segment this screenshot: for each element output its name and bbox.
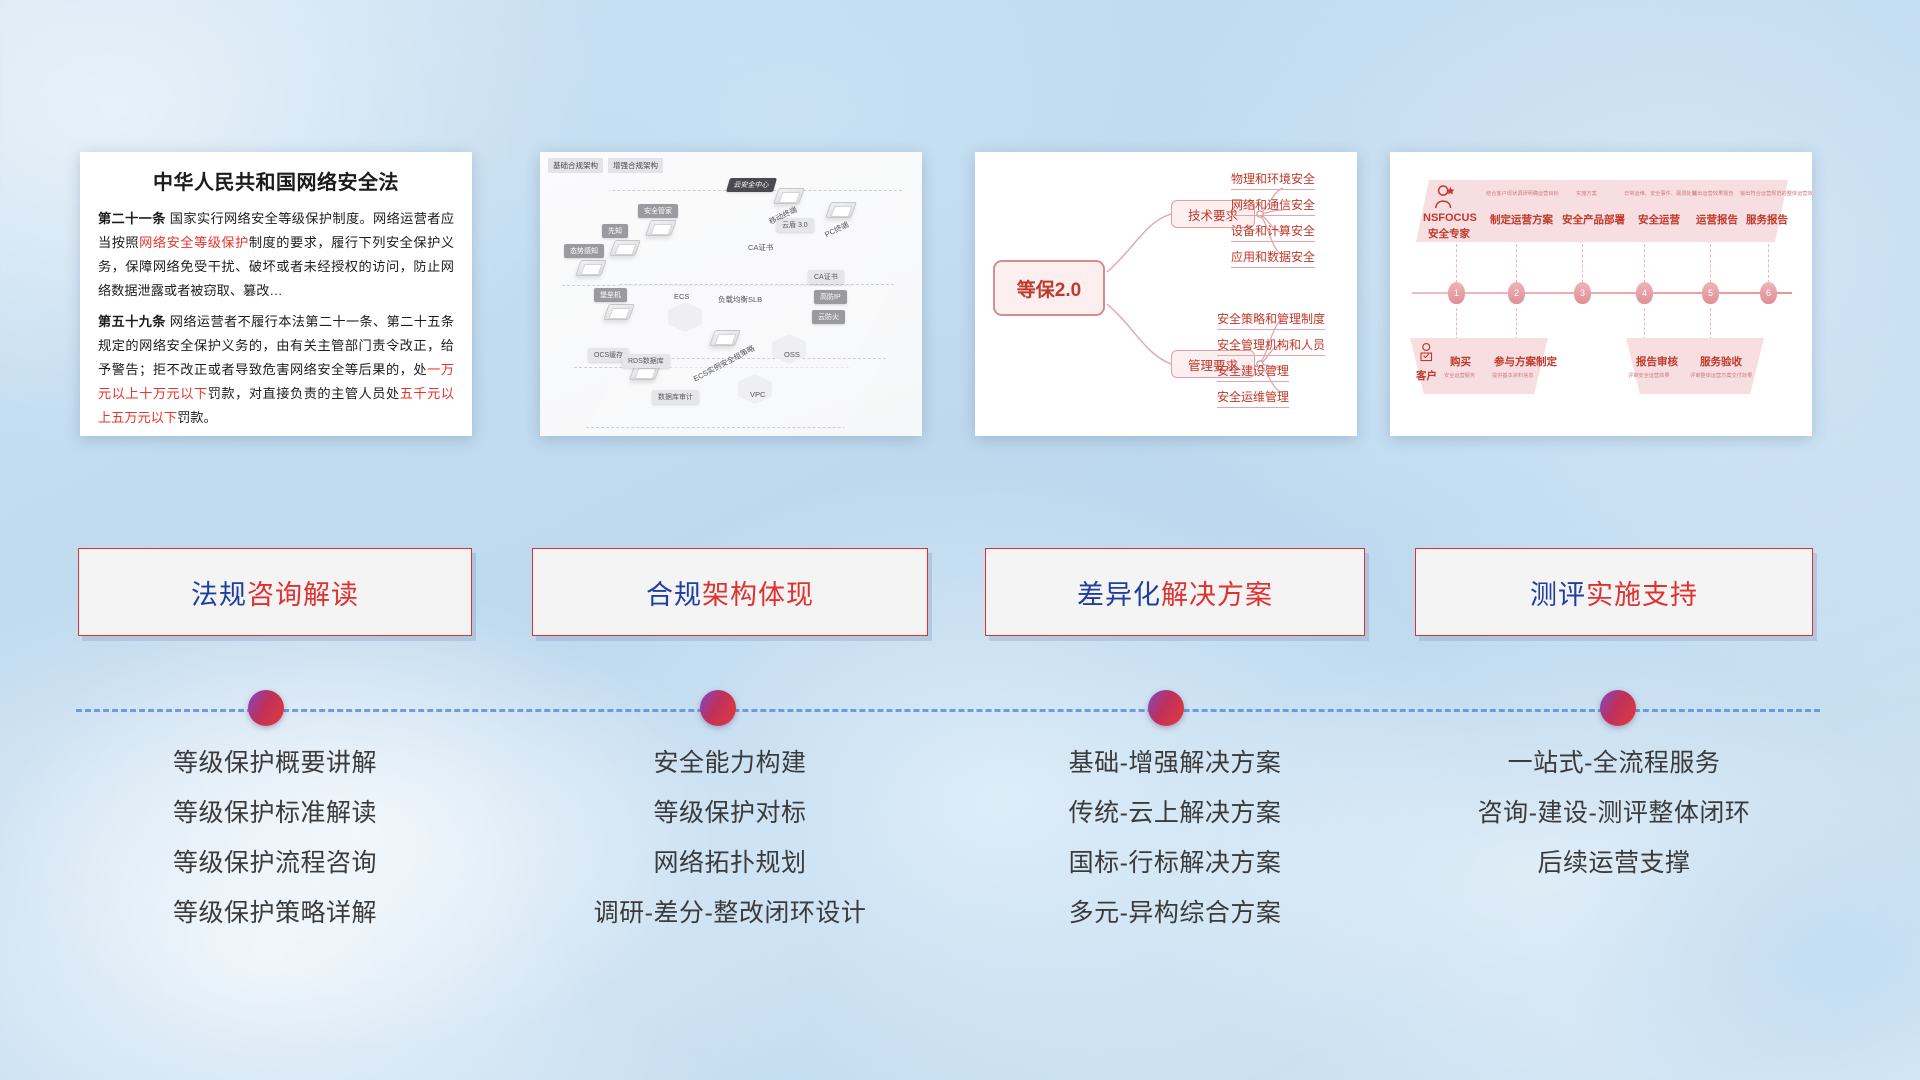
law-article-59-text-b: 罚款，对直接负责的主管人员处 xyxy=(208,386,400,401)
list-item: 后续运营支撑 xyxy=(1415,838,1813,888)
law-content: 中华人民共和国网络安全法 第二十一条 国家实行网络安全等级保护制度。网络运营者应… xyxy=(80,152,472,436)
flow-top-main-4: 运营报告 xyxy=(1696,212,1738,227)
header-box-differentiated-solution[interactable]: 差异化解决方案 xyxy=(985,548,1365,636)
timeline-dot-2 xyxy=(700,690,736,726)
flow-brand: NSFOCUS xyxy=(1423,212,1477,224)
flow-bottom-main-2: 参与方案制定 xyxy=(1494,354,1557,369)
flow-top-sub-1: 结合客户现状调研明确运营目标 xyxy=(1486,190,1559,197)
mindmap-leaf-security-construction: 安全建设管理 xyxy=(1217,362,1289,382)
card-mindmap-dengbao: 等保2.0 技术要求 管理要求 物理和环境安全 网络和通信安全 设备和计算安全 … xyxy=(975,152,1357,436)
timeline xyxy=(0,690,1920,730)
architecture-tabs: 基础合规架构 增强合规架构 xyxy=(548,158,663,173)
header-label-1-red: 咨询解读 xyxy=(247,580,359,610)
mindmap: 等保2.0 技术要求 管理要求 物理和环境安全 网络和通信安全 设备和计算安全 … xyxy=(975,152,1357,436)
arch-chip-security-butler: 安全管家 xyxy=(638,204,678,218)
arch-label-ecs: ECS xyxy=(674,292,689,301)
flow-brand-sub: 安全专家 xyxy=(1428,226,1470,241)
arch-label-vpc: VPC xyxy=(750,390,765,399)
arch-tab-enhanced: 增强合规架构 xyxy=(608,158,663,173)
law-paragraph-21: 第二十一条 国家实行网络安全等级保护制度。网络运营者应当按照网络安全等级保护制度… xyxy=(98,207,454,303)
mindmap-leaf-device-computing: 设备和计算安全 xyxy=(1231,222,1315,242)
timeline-dot-3 xyxy=(1148,690,1184,726)
service-flow-diagram: NSFOCUS 安全专家 结合客户现状调研明确运营目标 制定运营方案 实施方案 … xyxy=(1390,152,1812,436)
mindmap-leaf-security-policy: 安全策略和管理制度 xyxy=(1217,310,1325,330)
flow-bottom-main-4: 服务验收 xyxy=(1700,354,1742,369)
flow-connector-b3 xyxy=(1644,308,1645,340)
timeline-dot-4 xyxy=(1600,690,1636,726)
arch-chip-db-audit: 数据库审计 xyxy=(652,390,699,404)
list-item: 多元-异构综合方案 xyxy=(985,888,1365,938)
flow-top-sub-3: 日常运维、安全事件、漏洞处置 xyxy=(1624,190,1697,197)
law-article-21-number: 第二十一条 xyxy=(98,211,166,226)
header-label-4-blue: 测评 xyxy=(1530,580,1586,610)
expert-icon xyxy=(1434,184,1456,210)
flow-connector-b1 xyxy=(1456,308,1457,340)
flow-step-dot-2: 2 xyxy=(1508,282,1525,304)
law-title: 中华人民共和国网络安全法 xyxy=(98,166,454,195)
arch-chip-xianzhi: 先知 xyxy=(602,224,628,238)
flow-step-dot-3: 3 xyxy=(1574,282,1591,304)
arch-chip-cloud-security-center: 云安全中心 xyxy=(726,178,777,192)
flow-step-dot-1: 1 xyxy=(1448,282,1465,304)
arch-label-slb: 负载均衡SLB xyxy=(718,294,762,305)
arch-label-waf: CA证书 xyxy=(748,242,773,253)
bullet-column-2: 安全能力构建 等级保护对标 网络拓扑规划 调研-差分-整改闭环设计 xyxy=(532,738,928,938)
bullet-column-3: 基础-增强解决方案 传统-云上解决方案 国标-行标解决方案 多元-异构综合方案 xyxy=(985,738,1365,938)
law-article-59-number: 第五十九条 xyxy=(98,314,166,329)
bullet-column-row: 等级保护概要讲解 等级保护标准解读 等级保护流程咨询 等级保护策略详解 安全能力… xyxy=(0,738,1920,968)
flow-step-dot-4: 4 xyxy=(1636,282,1653,304)
flow-step-dot-6: 6 xyxy=(1760,282,1777,304)
arch-pane-lower xyxy=(586,358,886,428)
law-article-59-text-c: 罚款。 xyxy=(177,410,217,425)
flow-connector-b4 xyxy=(1710,308,1711,340)
header-label-2-blue: 合规 xyxy=(646,580,702,610)
flow-top-main-3: 安全运营 xyxy=(1638,212,1680,227)
flow-bottom-main-1: 购买 xyxy=(1450,354,1471,369)
law-article-21-highlight: 网络安全等级保护 xyxy=(139,235,249,250)
flow-customer-label: 客户 xyxy=(1416,368,1437,383)
arch-chip-situation-awareness: 态势感知 xyxy=(564,244,604,258)
timeline-dot-1 xyxy=(248,690,284,726)
customer-icon xyxy=(1418,342,1436,364)
flow-bottom-sub-4: 评审整体运营方案交付效果 xyxy=(1690,372,1752,379)
list-item: 等级保护策略详解 xyxy=(78,888,472,938)
header-box-row: 法规咨询解读 合规架构体现 差异化解决方案 测评实施支持 xyxy=(0,548,1920,640)
arch-chip-firewall: 云防火 xyxy=(812,310,845,324)
header-label-3: 差异化解决方案 xyxy=(1077,573,1273,612)
flow-bottom-sub-1: 安全运营服务 xyxy=(1444,372,1475,379)
list-item: 一站式-全流程服务 xyxy=(1415,738,1813,788)
list-item: 调研-差分-整改闭环设计 xyxy=(532,888,928,938)
header-label-3-blue: 差异化 xyxy=(1077,580,1161,610)
list-item: 安全能力构建 xyxy=(532,738,928,788)
mindmap-leaf-network-communication: 网络和通信安全 xyxy=(1231,196,1315,216)
architecture-diagram: 基础合规架构 增强合规架构 云安全中心 安全管家 先知 态势感知 云盾 3.0 … xyxy=(540,152,922,436)
list-item: 传统-云上解决方案 xyxy=(985,788,1365,838)
list-item: 国标-行标解决方案 xyxy=(985,838,1365,888)
list-item: 等级保护流程咨询 xyxy=(78,838,472,888)
card-cybersecurity-law: 中华人民共和国网络安全法 第二十一条 国家实行网络安全等级保护制度。网络运营者应… xyxy=(80,152,472,436)
header-label-4-red: 实施支持 xyxy=(1586,580,1698,610)
bullet-column-4: 一站式-全流程服务 咨询-建设-测评整体闭环 后续运营支撑 xyxy=(1415,738,1813,888)
arch-label-oss: OSS xyxy=(784,350,800,359)
flow-top-main-5: 服务报告 xyxy=(1746,212,1788,227)
image-card-row: 中华人民共和国网络安全法 第二十一条 国家实行网络安全等级保护制度。网络运营者应… xyxy=(0,152,1920,442)
list-item: 等级保护标准解读 xyxy=(78,788,472,838)
header-label-4: 测评实施支持 xyxy=(1530,573,1698,612)
arch-chip-anti-ddos: 高防IP xyxy=(814,290,847,304)
card-service-flow: NSFOCUS 安全专家 结合客户现状调研明确运营目标 制定运营方案 实施方案 … xyxy=(1390,152,1812,436)
card-cloud-architecture: 基础合规架构 增强合规架构 云安全中心 安全管家 先知 态势感知 云盾 3.0 … xyxy=(540,152,922,436)
mindmap-leaf-security-ops: 安全运维管理 xyxy=(1217,388,1289,408)
list-item: 咨询-建设-测评整体闭环 xyxy=(1415,788,1813,838)
flow-bottom-sub-2: 提供基本资料信息 xyxy=(1492,372,1534,379)
arch-tab-basic: 基础合规架构 xyxy=(548,158,603,173)
list-item: 等级保护对标 xyxy=(532,788,928,838)
arch-chip-bastion-host: 堡垒机 xyxy=(594,288,627,302)
bullet-column-1: 等级保护概要讲解 等级保护标准解读 等级保护流程咨询 等级保护策略详解 xyxy=(78,738,472,938)
mindmap-root-node: 等保2.0 xyxy=(993,260,1105,316)
mindmap-leaf-application-data: 应用和数据安全 xyxy=(1231,248,1315,268)
list-item: 等级保护概要讲解 xyxy=(78,738,472,788)
flow-top-sub-4: 输出运营效果报告 xyxy=(1692,190,1734,197)
arch-chip-ca-cert: CA证书 xyxy=(808,270,844,284)
flow-bottom-main-3: 报告审核 xyxy=(1636,354,1678,369)
mindmap-leaf-physical-environment: 物理和环境安全 xyxy=(1231,170,1315,190)
header-label-1: 法规咨询解读 xyxy=(191,573,359,612)
flow-top-sub-5: 输出符合运营规范的整体运营效果 xyxy=(1740,190,1812,197)
header-label-2: 合规架构体现 xyxy=(646,573,814,612)
list-item: 基础-增强解决方案 xyxy=(985,738,1365,788)
flow-top-main-1: 制定运营方案 xyxy=(1490,212,1553,227)
mindmap-leaf-security-org: 安全管理机构和人员 xyxy=(1217,336,1325,356)
header-box-regulation-consulting[interactable]: 法规咨询解读 xyxy=(78,548,472,636)
header-box-compliance-architecture[interactable]: 合规架构体现 xyxy=(532,548,928,636)
list-item: 网络拓扑规划 xyxy=(532,838,928,888)
header-label-3-red: 解决方案 xyxy=(1161,580,1273,610)
flow-connector-b2 xyxy=(1516,308,1517,340)
flow-bottom-sub-3: 评审安全运营效果 xyxy=(1628,372,1670,379)
header-label-2-red: 架构体现 xyxy=(702,580,814,610)
flow-top-sub-2: 实施方案 xyxy=(1576,190,1597,197)
header-box-evaluation-support[interactable]: 测评实施支持 xyxy=(1415,548,1813,636)
timeline-dashed-line xyxy=(76,709,1820,712)
flow-top-main-2: 安全产品部署 xyxy=(1562,212,1625,227)
flow-step-dot-5: 5 xyxy=(1702,282,1719,304)
arch-chip-rds: RDS数据库 xyxy=(622,354,670,368)
header-label-1-blue: 法规 xyxy=(191,580,247,610)
law-paragraph-59: 第五十九条 网络运营者不履行本法第二十一条、第二十五条规定的网络安全保护义务的，… xyxy=(98,310,454,430)
flow-axis xyxy=(1412,292,1792,294)
